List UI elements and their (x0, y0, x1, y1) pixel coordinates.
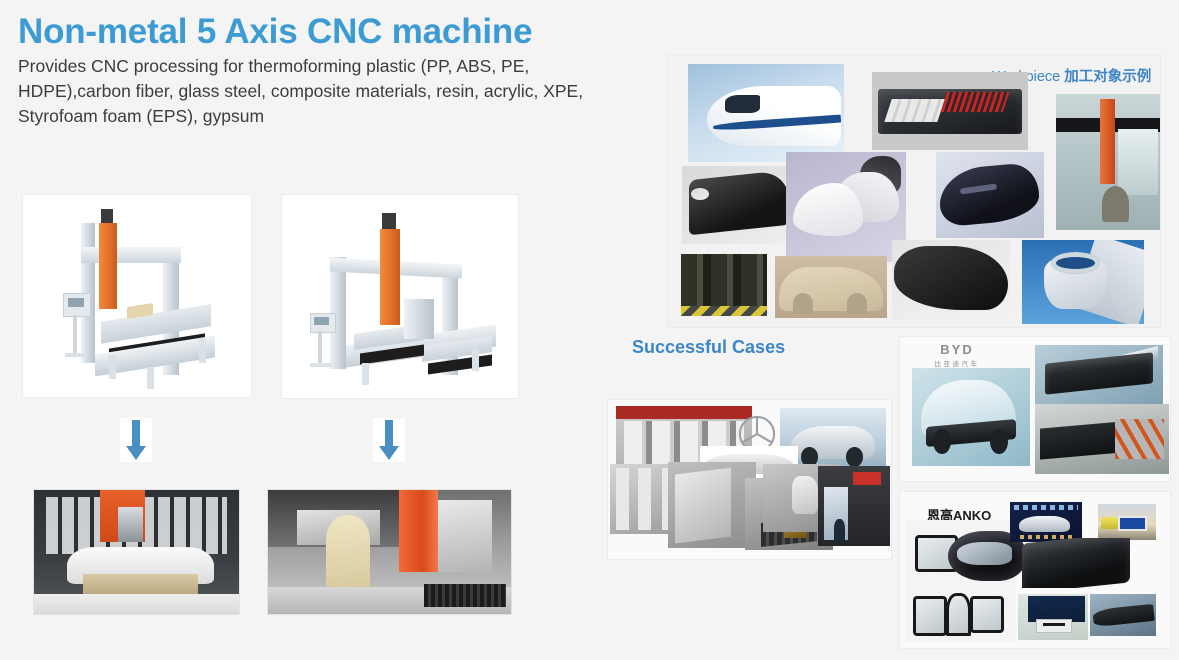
down-arrow-icon (379, 420, 399, 460)
workpiece-carbon-fiber-hood (936, 152, 1044, 238)
workpiece-engine-nacelle (1022, 240, 1144, 324)
page-subtitle: Provides CNC processing for thermoformin… (18, 54, 638, 129)
byd-logo: BYD 比亚迪汽车 (922, 343, 992, 368)
anko-roadside-billboard (1098, 504, 1156, 540)
anko-award-booth (1018, 594, 1088, 640)
case-large-white-panel (668, 462, 756, 548)
workpiece-carbon-fiber-fender (892, 240, 1010, 320)
process-photo-mould-machining (33, 489, 240, 615)
anko-expo-display (1010, 502, 1082, 542)
anko-black-battery-cover (1022, 538, 1130, 588)
byd-logo-wordmark: BYD (922, 343, 992, 356)
workpiece-high-speed-train (688, 64, 844, 162)
workpiece-carbon-fiber-seat-shell (682, 166, 796, 244)
byd-ev-chassis (912, 368, 1030, 466)
page-title: Non-metal 5 Axis CNC machine (18, 12, 532, 52)
machine-photo-dual-table (281, 194, 519, 399)
down-arrow-icon (126, 420, 146, 460)
workpiece-gantry-machine-workshop (1056, 94, 1160, 230)
workpiece-ev-battery-pack (872, 72, 1028, 150)
slide-root: Non-metal 5 Axis CNC machine Provides CN… (0, 0, 1179, 660)
byd-battery-pack-cover (1035, 345, 1163, 405)
successful-cases-label: Successful Cases (632, 337, 785, 358)
machine-photo-single-table (22, 194, 252, 398)
anko-composite-part-closeup (1090, 594, 1156, 636)
workpiece-white-foam-mould (786, 152, 906, 262)
workpiece-stacked-cases (681, 254, 767, 316)
workpiece-label-cn: 加工对象示例 (1064, 69, 1151, 85)
byd-logo-chinese: 比亚迪汽车 (922, 358, 992, 368)
down-arrow-right (373, 418, 405, 462)
process-photo-foam-sculpture-machining (267, 489, 512, 615)
workpiece-clay-car-model (775, 256, 887, 318)
case-factory-floor-with-sign (818, 466, 890, 546)
byd-battery-assembly-line (1035, 404, 1169, 474)
down-arrow-left (120, 418, 152, 462)
